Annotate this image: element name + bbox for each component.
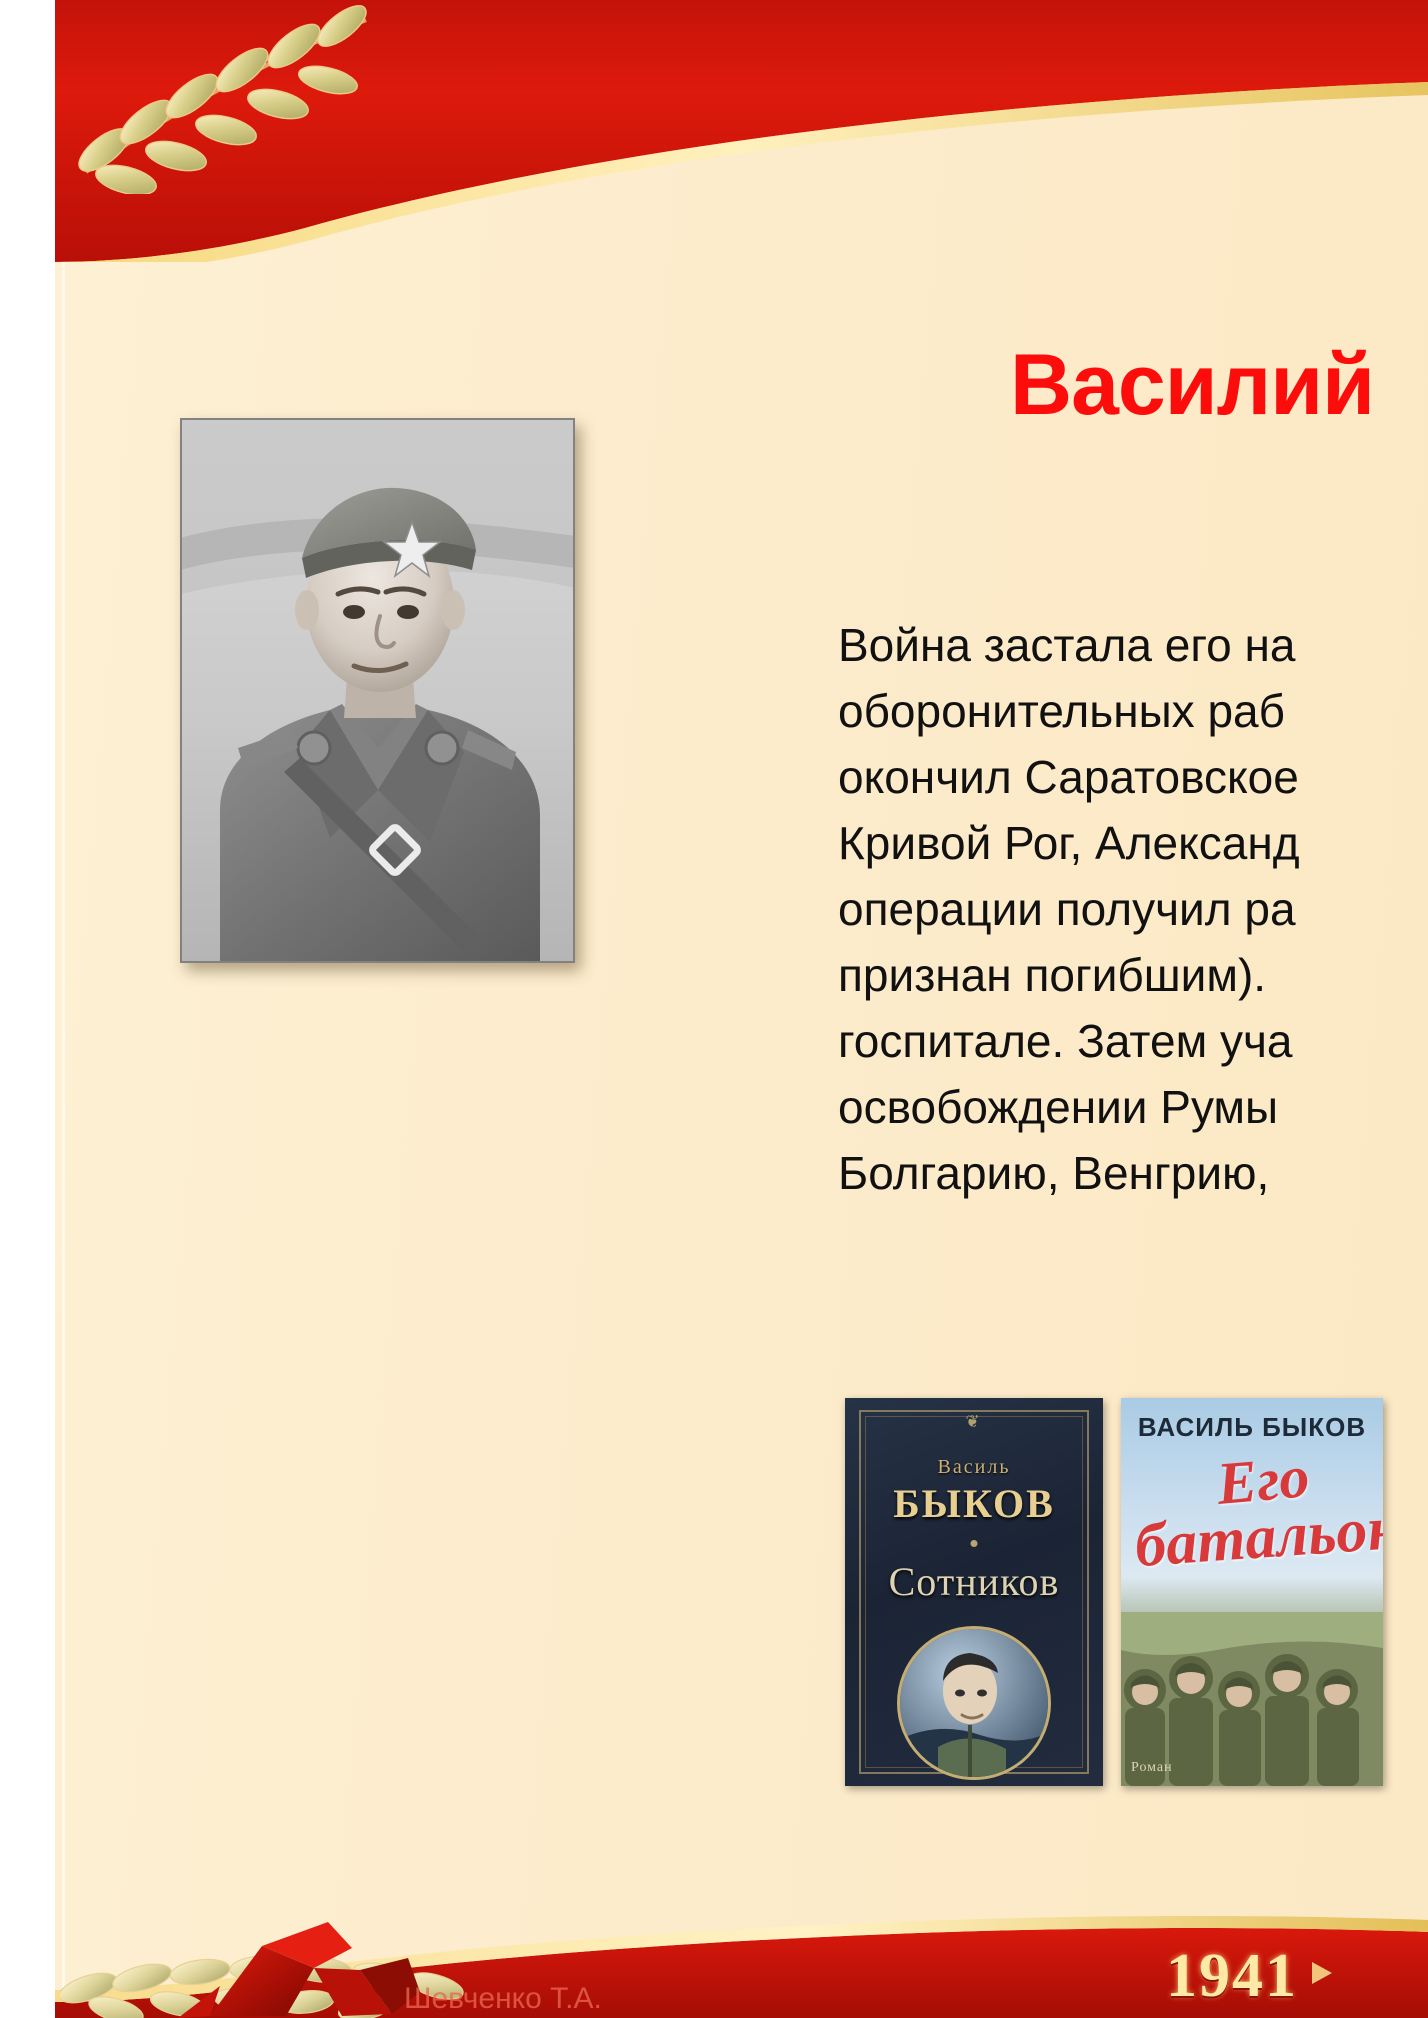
body-paragraph: Война застала его на оборонительных раб …	[838, 612, 1428, 1206]
body-line: признан погибшим).	[838, 942, 1428, 1008]
book-author-last: БЫКОВ	[845, 1480, 1103, 1527]
year-arrow-icon	[1312, 1962, 1332, 1984]
body-line: Война застала его на	[838, 612, 1428, 678]
laurel-branch-icon	[70, 4, 370, 194]
book-cover-ego-batalion: ВАСИЛЬ БЫКОВ Его батальон	[1121, 1398, 1383, 1786]
book-ornament-icon: ❦	[965, 1412, 982, 1432]
book-title-line2: батальон	[1133, 1493, 1383, 1582]
body-line: Кривой Рог, Александ	[838, 810, 1428, 876]
book-badge: Роман	[1131, 1760, 1173, 1776]
portrait-photo-soldier	[180, 418, 575, 963]
book-author-first: Василь	[845, 1456, 1103, 1479]
background-accent-line	[62, 0, 65, 2018]
body-line: освобождении Румы	[838, 1074, 1428, 1140]
book-author: ВАСИЛЬ БЫКОВ	[1121, 1412, 1383, 1443]
book-cover-sotnikov: ❦ Василь БЫКОВ Сотников	[845, 1398, 1103, 1786]
body-line: окончил Саратовское	[838, 744, 1428, 810]
page-title: Василий	[1010, 336, 1374, 435]
book-cover-gallery: ❦ Василь БЫКОВ Сотников	[845, 1398, 1383, 1786]
body-line: оборонительных раб	[838, 678, 1428, 744]
book-divider-dot	[971, 1540, 978, 1547]
body-line: операции получил ра	[838, 876, 1428, 942]
book-title: Сотников	[845, 1558, 1103, 1605]
body-line: Болгарию, Венгрию,	[838, 1140, 1428, 1206]
body-line: госпитале. Затем уча	[838, 1008, 1428, 1074]
year-badge: 1941	[1166, 1941, 1298, 2012]
presentation-slide: Василий Война застала его на оборонитель…	[0, 0, 1428, 2018]
left-gutter	[0, 0, 55, 2018]
book-medallion-portrait-icon	[897, 1626, 1051, 1780]
author-watermark: Шевченко Т.А.	[404, 1982, 602, 2016]
